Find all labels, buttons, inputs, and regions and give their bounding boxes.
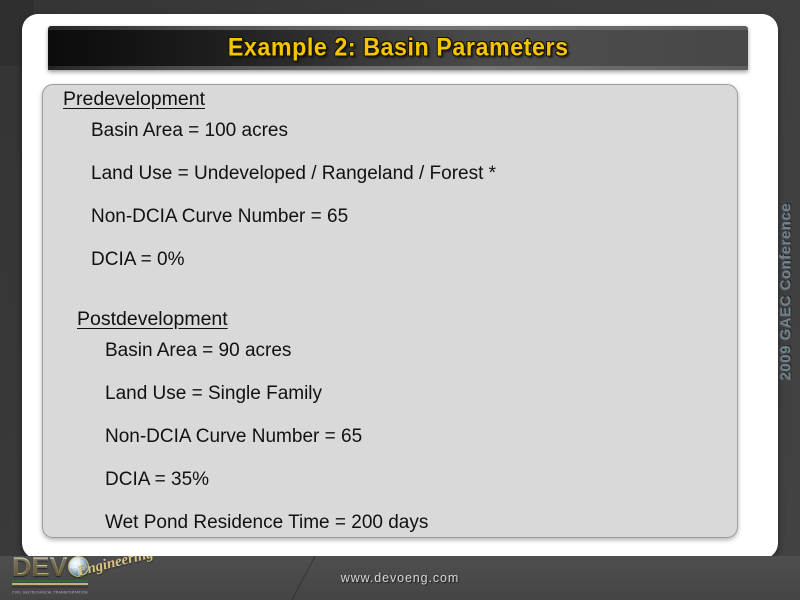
list-item: Land Use = Undeveloped / Rangeland / For… <box>91 164 496 183</box>
list-item: DCIA = 35% <box>105 470 428 489</box>
page-title: Example 2: Basin Parameters <box>48 34 748 63</box>
list-item: Land Use = Single Family <box>105 384 428 403</box>
group-items-predevelopment: Basin Area = 100 acres Land Use = Undeve… <box>63 121 496 269</box>
slide-footer: www.devoeng.com DEVO Engineering CIVIL G… <box>0 556 800 600</box>
list-item: Wet Pond Residence Time = 200 days <box>105 513 428 532</box>
list-item: Non-DCIA Curve Number = 65 <box>91 207 496 226</box>
list-item: Basin Area = 100 acres <box>91 121 496 140</box>
logo-bar-gold <box>12 583 88 585</box>
conference-side-label-text: 2009 GAEC Conference <box>778 202 795 380</box>
group-predevelopment: Predevelopment Basin Area = 100 acres La… <box>63 90 496 269</box>
list-item: Non-DCIA Curve Number = 65 <box>105 427 428 446</box>
logo-bar-green <box>12 580 88 582</box>
content-panel: Predevelopment Basin Area = 100 acres La… <box>42 84 738 538</box>
slide-root: Example 2: Basin Parameters Predevelopme… <box>0 0 800 600</box>
group-postdevelopment: Postdevelopment Basin Area = 90 acres La… <box>77 310 428 532</box>
group-heading-predevelopment: Predevelopment <box>63 90 496 110</box>
group-heading-postdevelopment: Postdevelopment <box>77 310 428 330</box>
conference-side-label: 2009 GAEC Conference <box>775 186 797 396</box>
list-item: DCIA = 0% <box>91 250 496 269</box>
logo-bar-dark <box>12 586 88 588</box>
list-item: Basin Area = 90 acres <box>105 341 428 360</box>
devo-logo: DEVO Engineering CIVIL GEOTECHNICAL TRAN… <box>6 556 146 598</box>
page-title-text: Example 2: Basin Parameters <box>228 34 569 63</box>
group-items-postdevelopment: Basin Area = 90 acres Land Use = Single … <box>77 341 428 532</box>
devo-logo-tagline: CIVIL GEOTECHNICAL TRANSPORTATION <box>12 590 92 595</box>
slide-title-bar: Example 2: Basin Parameters <box>48 26 748 70</box>
devo-logo-bars <box>12 580 88 589</box>
